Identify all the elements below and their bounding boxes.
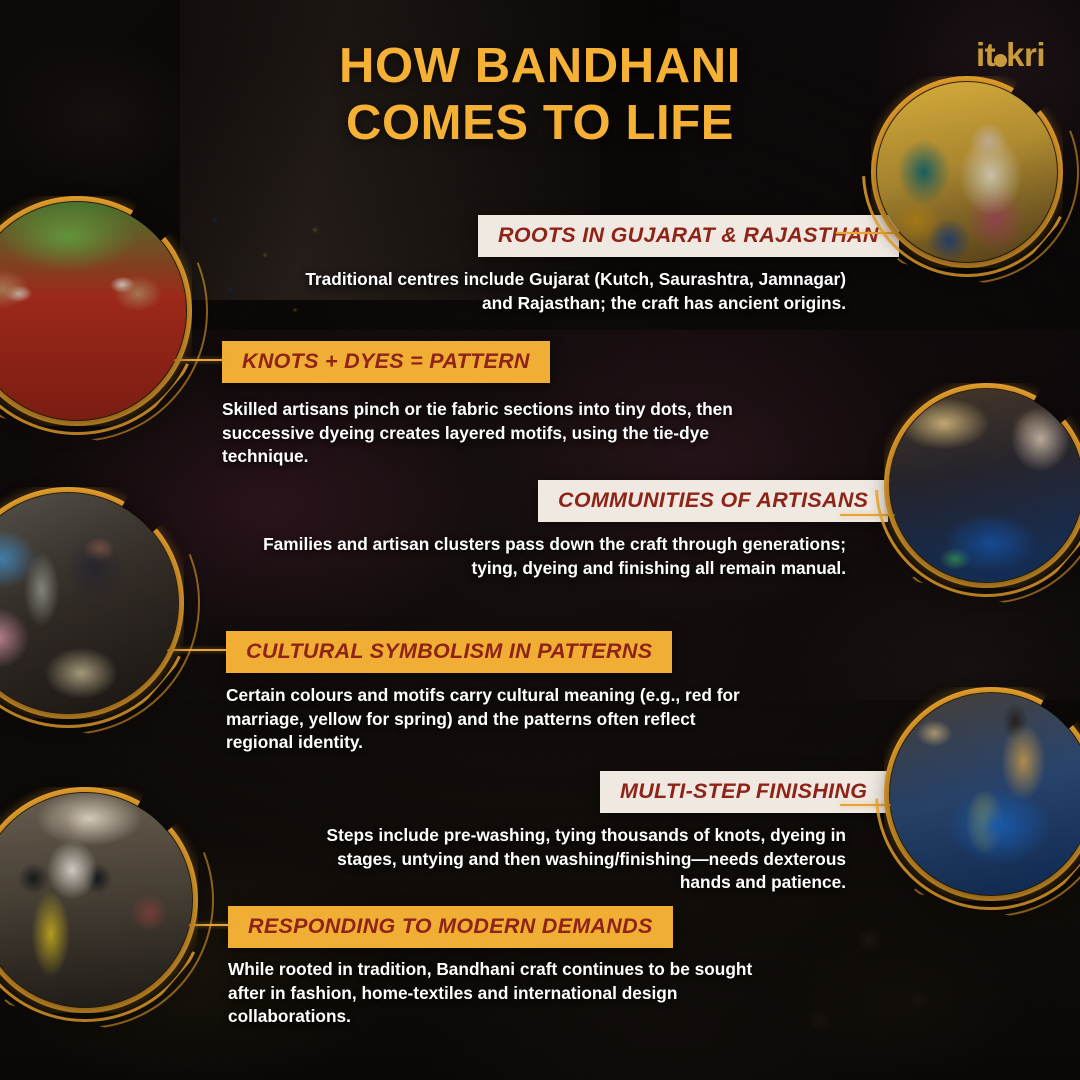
page-title-line-1: HOW BANDHANI [339,39,741,93]
section-banner-finishing[interactable]: MULTI-STEP FINISHING [600,771,887,813]
itokri-logo[interactable]: itkri [976,36,1045,74]
section-banner-symbolism[interactable]: CULTURAL SYMBOLISM IN PATTERNS [226,631,672,673]
photo-image-hands-red [0,202,186,420]
logo-text-before: it [976,36,995,73]
section-banner-roots[interactable]: ROOTS IN GUJARAT & RAJASTHAN [478,215,899,257]
section-banner-knots-dyes[interactable]: KNOTS + DYES = PATTERN [222,341,550,383]
photo-image-vat-yellow [890,693,1080,895]
photo-dye-blue [884,383,1080,588]
section-banner-communities[interactable]: COMMUNITIES OF ARTISANS [538,480,888,522]
section-banner-modern-demands[interactable]: RESPONDING TO MODERN DEMANDS [228,906,673,948]
photo-hands-red [0,196,192,426]
photo-tie-women [871,76,1063,268]
photo-image-man-yellow [0,793,192,1007]
photo-image-women-sort [0,493,178,713]
section-body-finishing: Steps include pre-washing, tying thousan… [316,824,846,895]
photo-women-sort [0,487,184,719]
logo-text-after: kri [1006,36,1045,73]
section-body-symbolism: Certain colours and motifs carry cultura… [226,684,766,755]
section-body-knots-dyes: Skilled artisans pinch or tie fabric sec… [222,398,752,469]
photo-image-dye-blue [890,389,1080,582]
photo-vat-yellow [884,687,1080,901]
section-body-communities: Families and artisan clusters pass down … [244,533,846,580]
section-body-modern-demands: While rooted in tradition, Bandhani craf… [228,958,778,1029]
photo-man-yellow [0,787,198,1013]
photo-image-tie-women [877,82,1057,262]
section-body-roots: Traditional centres include Gujarat (Kut… [270,268,846,315]
